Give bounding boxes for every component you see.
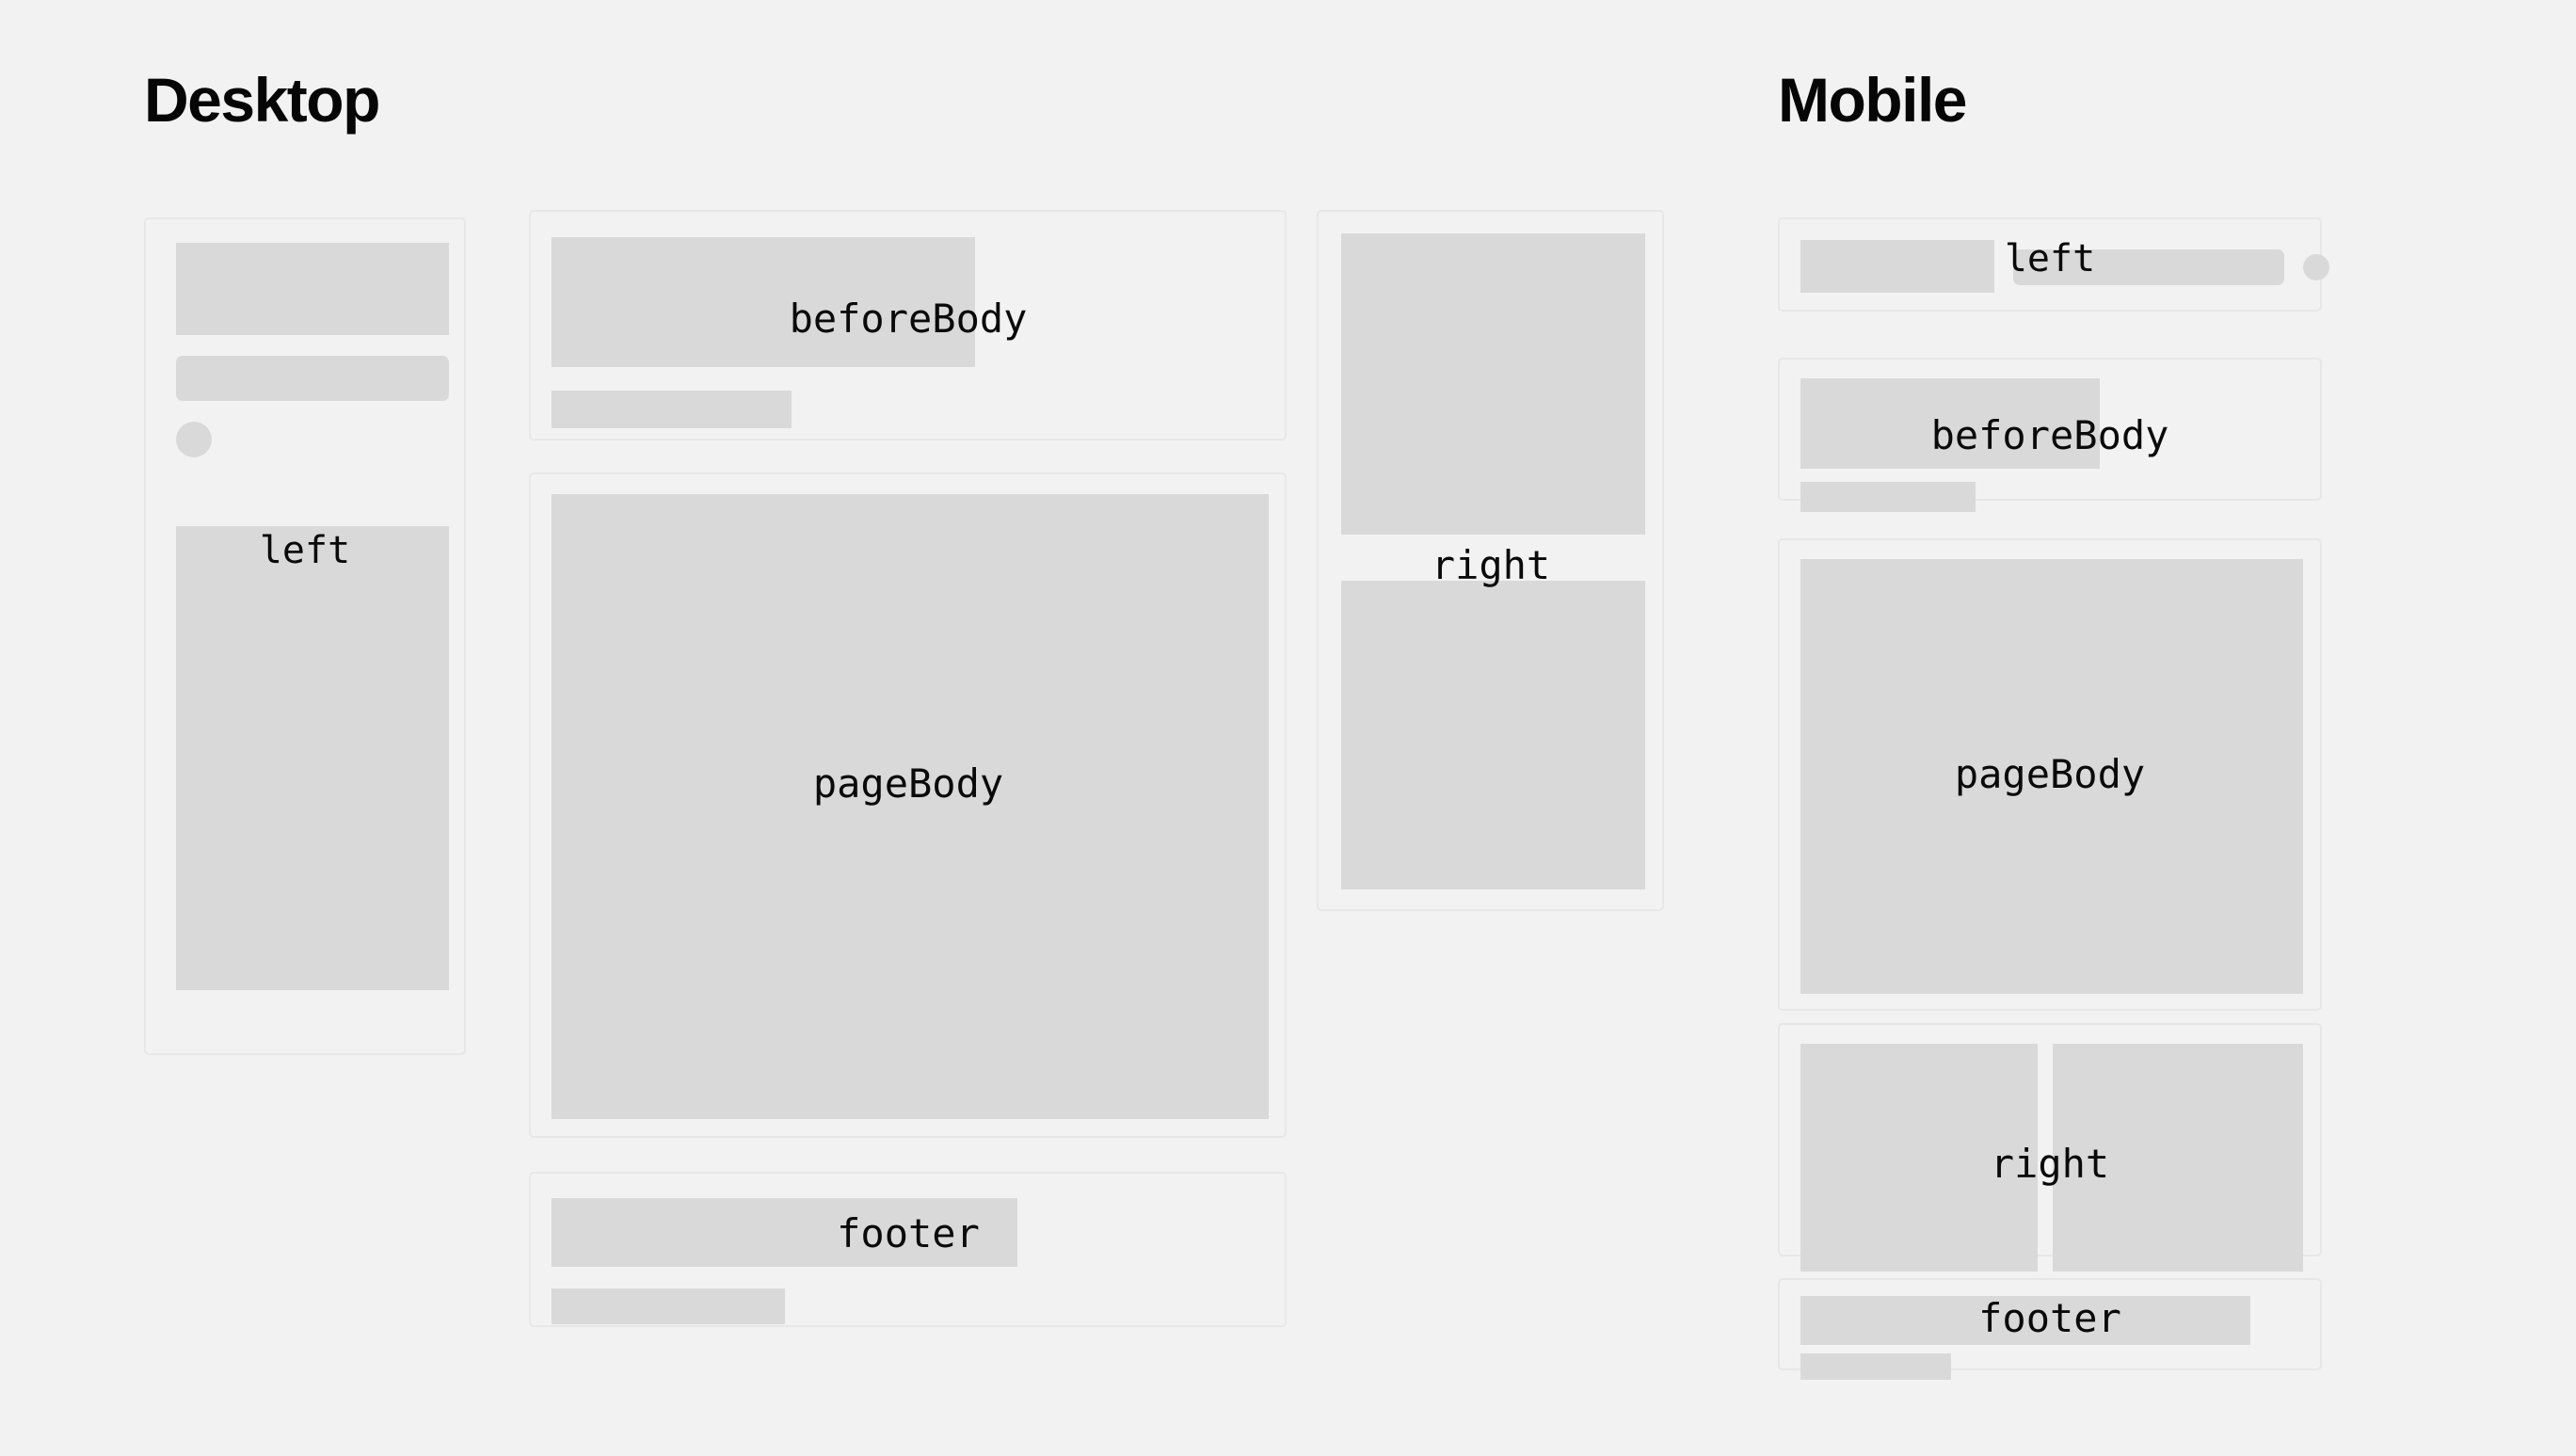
- mobile-footer-region-label: footer: [1978, 1299, 2121, 1338]
- mobile-before-body-region-label: beforeBody: [1931, 416, 2169, 456]
- desktop-right-region-label: right: [1432, 546, 1550, 585]
- desktop-before-body-region-label: beforeBody: [790, 299, 1028, 339]
- mobile-section-title: Mobile: [1778, 69, 1966, 131]
- skeleton-block: [1341, 233, 1645, 535]
- mobile-right-panel[interactable]: [1778, 1023, 2322, 1256]
- desktop-left-region-label: left: [260, 532, 350, 569]
- skeleton-block-small: [552, 1288, 785, 1324]
- desktop-page-body-region-label: pageBody: [813, 764, 1003, 804]
- desktop-section-title: Desktop: [144, 69, 379, 131]
- mobile-left-region-label: left: [2005, 240, 2095, 278]
- skeleton-block: [1341, 581, 1645, 889]
- mobile-page-body-region-label: pageBody: [1955, 755, 2145, 794]
- skeleton-avatar-circle: [176, 422, 212, 457]
- skeleton-block-small: [552, 391, 792, 428]
- mobile-right-region-label: right: [1991, 1144, 2109, 1184]
- desktop-left-panel[interactable]: [144, 217, 466, 1055]
- skeleton-block-large: [552, 494, 1269, 1119]
- skeleton-block-tall: [176, 526, 449, 990]
- skeleton-block-small: [1800, 482, 1976, 512]
- skeleton-block: [176, 243, 449, 335]
- skeleton-bar: [176, 356, 449, 401]
- desktop-footer-region-label: footer: [837, 1214, 980, 1254]
- skeleton-avatar-circle: [2303, 254, 2329, 280]
- skeleton-block: [1800, 240, 1994, 293]
- skeleton-block-small: [1800, 1353, 1951, 1380]
- layout-preview-stage: Desktop left beforeBody pageBody footer …: [0, 0, 2576, 1456]
